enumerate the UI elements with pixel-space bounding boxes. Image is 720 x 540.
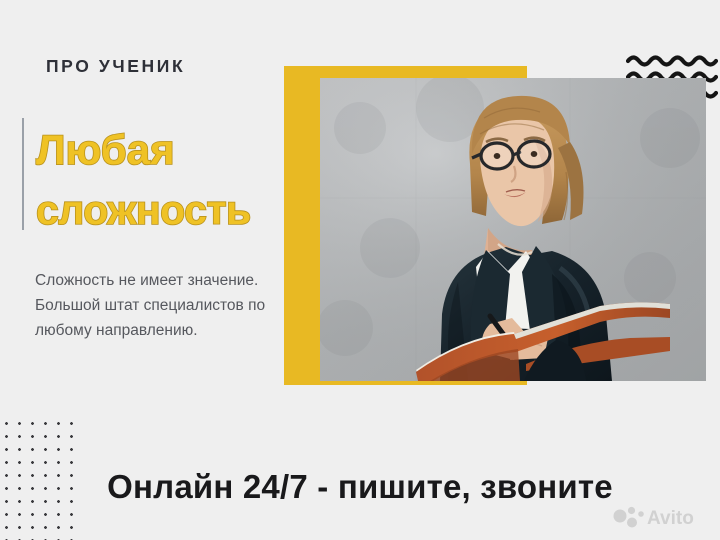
headline-line-2: сложность <box>36 180 306 240</box>
avito-watermark-icon: Avito <box>612 504 708 530</box>
hero-photo <box>320 78 706 381</box>
advertisement-banner: ПРО УЧЕНИК Любая сложность Сложность не … <box>0 0 720 540</box>
page-title: Любая сложность <box>36 120 306 240</box>
accent-rule <box>22 118 24 230</box>
cta-headline: Онлайн 24/7 - пишите, звоните <box>0 468 720 506</box>
body-paragraph: Сложность не имеет значение. Большой шта… <box>35 268 270 343</box>
svg-text:Avito: Avito <box>647 508 694 529</box>
headline-line-1: Любая <box>36 120 306 180</box>
eyebrow-label: ПРО УЧЕНИК <box>46 56 185 77</box>
